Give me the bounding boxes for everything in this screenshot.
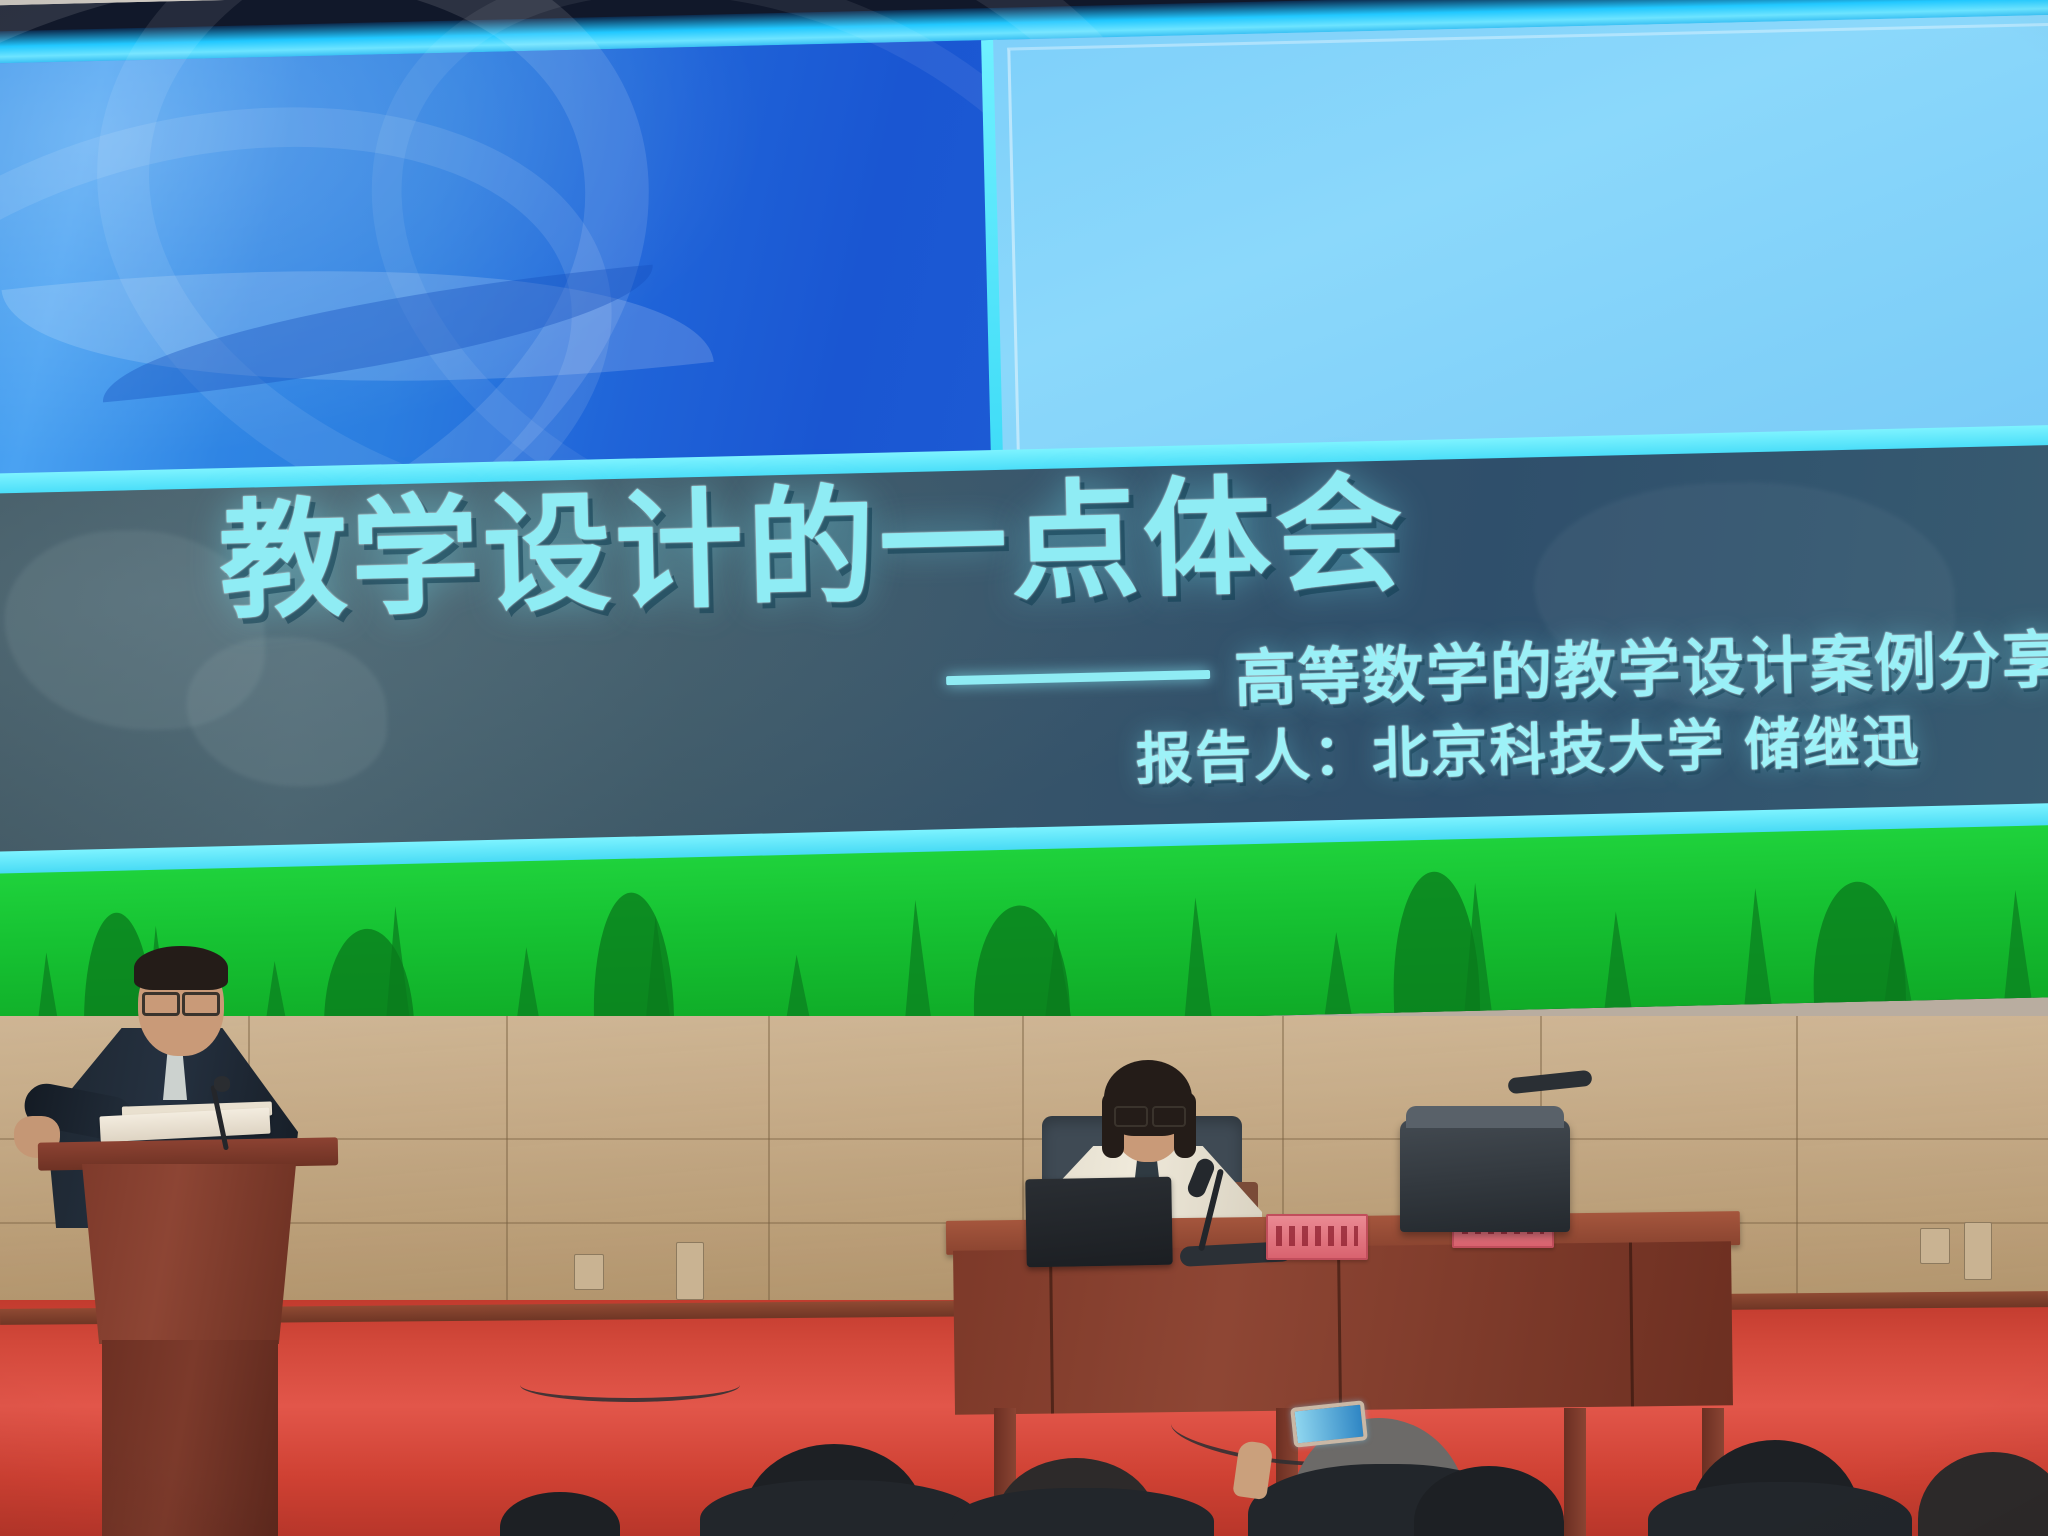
- podium-microphone-head: [214, 1076, 230, 1092]
- speaker-glasses-icon: [182, 992, 220, 1016]
- equipment-lid: [1406, 1106, 1564, 1128]
- wall-socket: [676, 1242, 704, 1300]
- moderator-glasses-icon: [1114, 1106, 1148, 1127]
- desk-leg: [1564, 1408, 1586, 1536]
- speaker-glasses-icon: [142, 992, 180, 1016]
- laptop[interactable]: [1025, 1177, 1173, 1268]
- attendee-phone[interactable]: [1290, 1400, 1368, 1448]
- led-screen: 教学设计的一点体会 高等数学的教学设计案例分享 报告人：北京科技大学 储继迅: [0, 0, 2048, 1046]
- screenshot-root: 教学设计的一点体会 高等数学的教学设计案例分享 报告人：北京科技大学 储继迅: [0, 0, 2048, 1536]
- desk-microphone: [1160, 1158, 1276, 1268]
- speaker-hair: [134, 946, 228, 990]
- desk-front-panel: [953, 1241, 1733, 1414]
- wall-socket: [1964, 1222, 1992, 1280]
- podium-base: [102, 1340, 278, 1536]
- nameplate-left: [1266, 1214, 1368, 1260]
- floor-cable: [520, 1368, 740, 1402]
- decorative-texture: [185, 634, 388, 789]
- slide-light-blue-panel: [993, 14, 2048, 460]
- wall-socket: [574, 1254, 604, 1290]
- audio-equipment-unit: [1400, 1120, 1570, 1232]
- slide-upper-band: [0, 14, 2048, 484]
- slide-blue-graphic-panel: [0, 40, 999, 484]
- podium: [60, 1140, 318, 1536]
- wall-socket: [1920, 1228, 1950, 1264]
- moderator-glasses-icon: [1152, 1106, 1186, 1127]
- podium-body: [82, 1164, 296, 1344]
- subtitle-rule: [946, 669, 1210, 684]
